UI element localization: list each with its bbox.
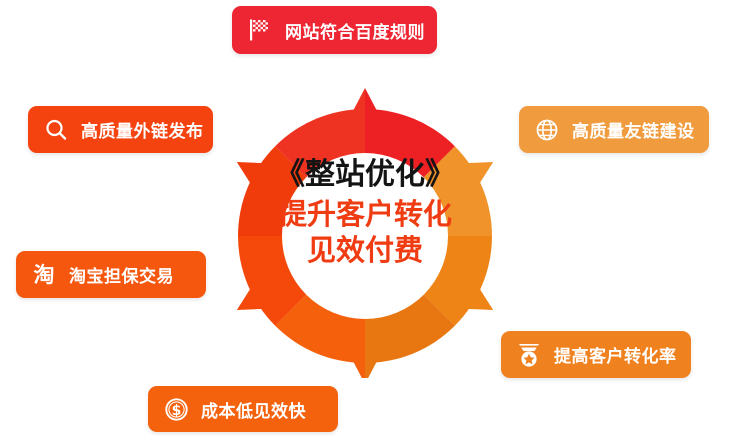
infographic-canvas: 《整站优化》 提升客户转化 见效付费 bbox=[0, 0, 730, 436]
taobao-glyph: 淘 bbox=[34, 263, 55, 287]
center-subtitle-line-2: 见效付费 bbox=[255, 234, 475, 266]
center-text-block: 《整站优化》 提升客户转化 见效付费 bbox=[255, 158, 475, 267]
badge-outbound-links[interactable]: 高质量外链发布 bbox=[28, 106, 213, 153]
search-icon bbox=[41, 115, 71, 145]
badge-low-cost[interactable]: $ 成本低见效快 bbox=[148, 386, 338, 432]
badge-baidu-rules[interactable]: 网站符合百度规则 bbox=[232, 6, 437, 54]
badge-friendly-links[interactable]: 高质量友链建设 bbox=[519, 106, 709, 153]
checkered-flag-icon bbox=[245, 15, 275, 45]
center-subtitle-line-1: 提升客户转化 bbox=[255, 198, 475, 230]
svg-text:$: $ bbox=[171, 403, 181, 419]
badge-label: 淘宝担保交易 bbox=[69, 262, 174, 287]
badge-label: 高质量友链建设 bbox=[572, 117, 695, 142]
center-title: 《整站优化》 bbox=[255, 158, 475, 192]
taobao-icon: 淘 bbox=[29, 260, 59, 290]
badge-taobao-escrow[interactable]: 淘 淘宝担保交易 bbox=[16, 251, 206, 298]
badge-conversion-rate[interactable]: 提高客户转化率 bbox=[501, 331, 691, 378]
badge-label: 网站符合百度规则 bbox=[285, 18, 425, 43]
globe-icon bbox=[532, 115, 562, 145]
badge-label: 成本低见效快 bbox=[201, 397, 306, 422]
medal-icon bbox=[514, 340, 544, 370]
badge-label: 高质量外链发布 bbox=[81, 117, 204, 142]
dollar-coin-icon: $ bbox=[161, 394, 191, 424]
badge-label: 提高客户转化率 bbox=[554, 342, 677, 367]
